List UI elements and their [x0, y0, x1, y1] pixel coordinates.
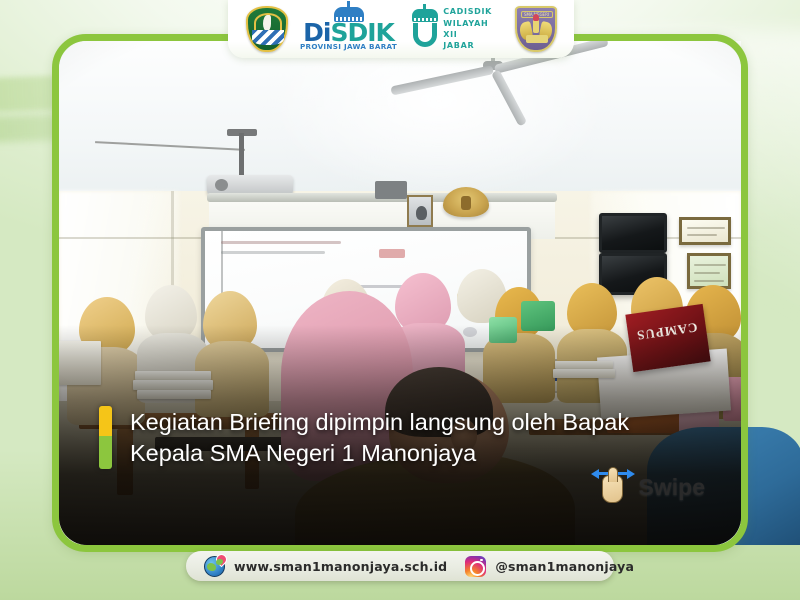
pointing-hand-icon [602, 475, 623, 503]
cadisdik-wordmark: CADISDIK WILAYAH XII JABAR [443, 6, 505, 51]
disdik-subtitle: PROVINSI JAWA BARAT [297, 42, 401, 51]
post-photo: CAMPUS Kegiatan Briefing dipimpin langsu… [59, 41, 741, 545]
photo-scene: CAMPUS Kegiatan Briefing dipimpin langsu… [59, 41, 741, 545]
caption-line-1: Kegiatan Briefing dipimpin langsung oleh… [130, 407, 629, 438]
swipe-hint[interactable]: Swipe [591, 467, 705, 507]
cadisdik-line-3: JABAR [443, 40, 505, 51]
west-java-province-emblem-icon [246, 6, 288, 52]
arrow-right-icon [627, 469, 635, 479]
arrow-left-icon [591, 469, 599, 479]
cadisdik-line-2: WILAYAH XII [443, 18, 505, 41]
cadisdik-mark-icon [410, 9, 440, 49]
instagram-handle[interactable]: @sman1manonjaya [495, 559, 634, 574]
cadisdik-line-1: CADISDIK [443, 6, 505, 17]
school-emblem-icon: SMA NEGERI [515, 6, 557, 52]
caption-block: Kegiatan Briefing dipimpin langsung oleh… [99, 406, 629, 469]
caption-text: Kegiatan Briefing dipimpin langsung oleh… [130, 406, 629, 469]
website-label[interactable]: www.sman1manonjaya.sch.id [234, 559, 447, 574]
caption-line-2: Kepala SMA Negeri 1 Manonjaya [130, 438, 629, 469]
cadisdik-logo: CADISDIK WILAYAH XII JABAR [410, 6, 506, 52]
footer-contact-bar: www.sman1manonjaya.sch.id @sman1manonjay… [186, 551, 614, 581]
instagram-icon [465, 556, 486, 577]
swipe-label: Swipe [639, 474, 705, 501]
globe-pin-icon [204, 556, 225, 577]
header-logo-bar: DiSDIK PROVINSI JAWA BARAT CADISDIK WILA… [228, 0, 574, 58]
disdik-logo: DiSDIK PROVINSI JAWA BARAT [297, 6, 401, 52]
hand-swipe-icon [591, 467, 635, 507]
caption-accent-bar [99, 406, 112, 469]
